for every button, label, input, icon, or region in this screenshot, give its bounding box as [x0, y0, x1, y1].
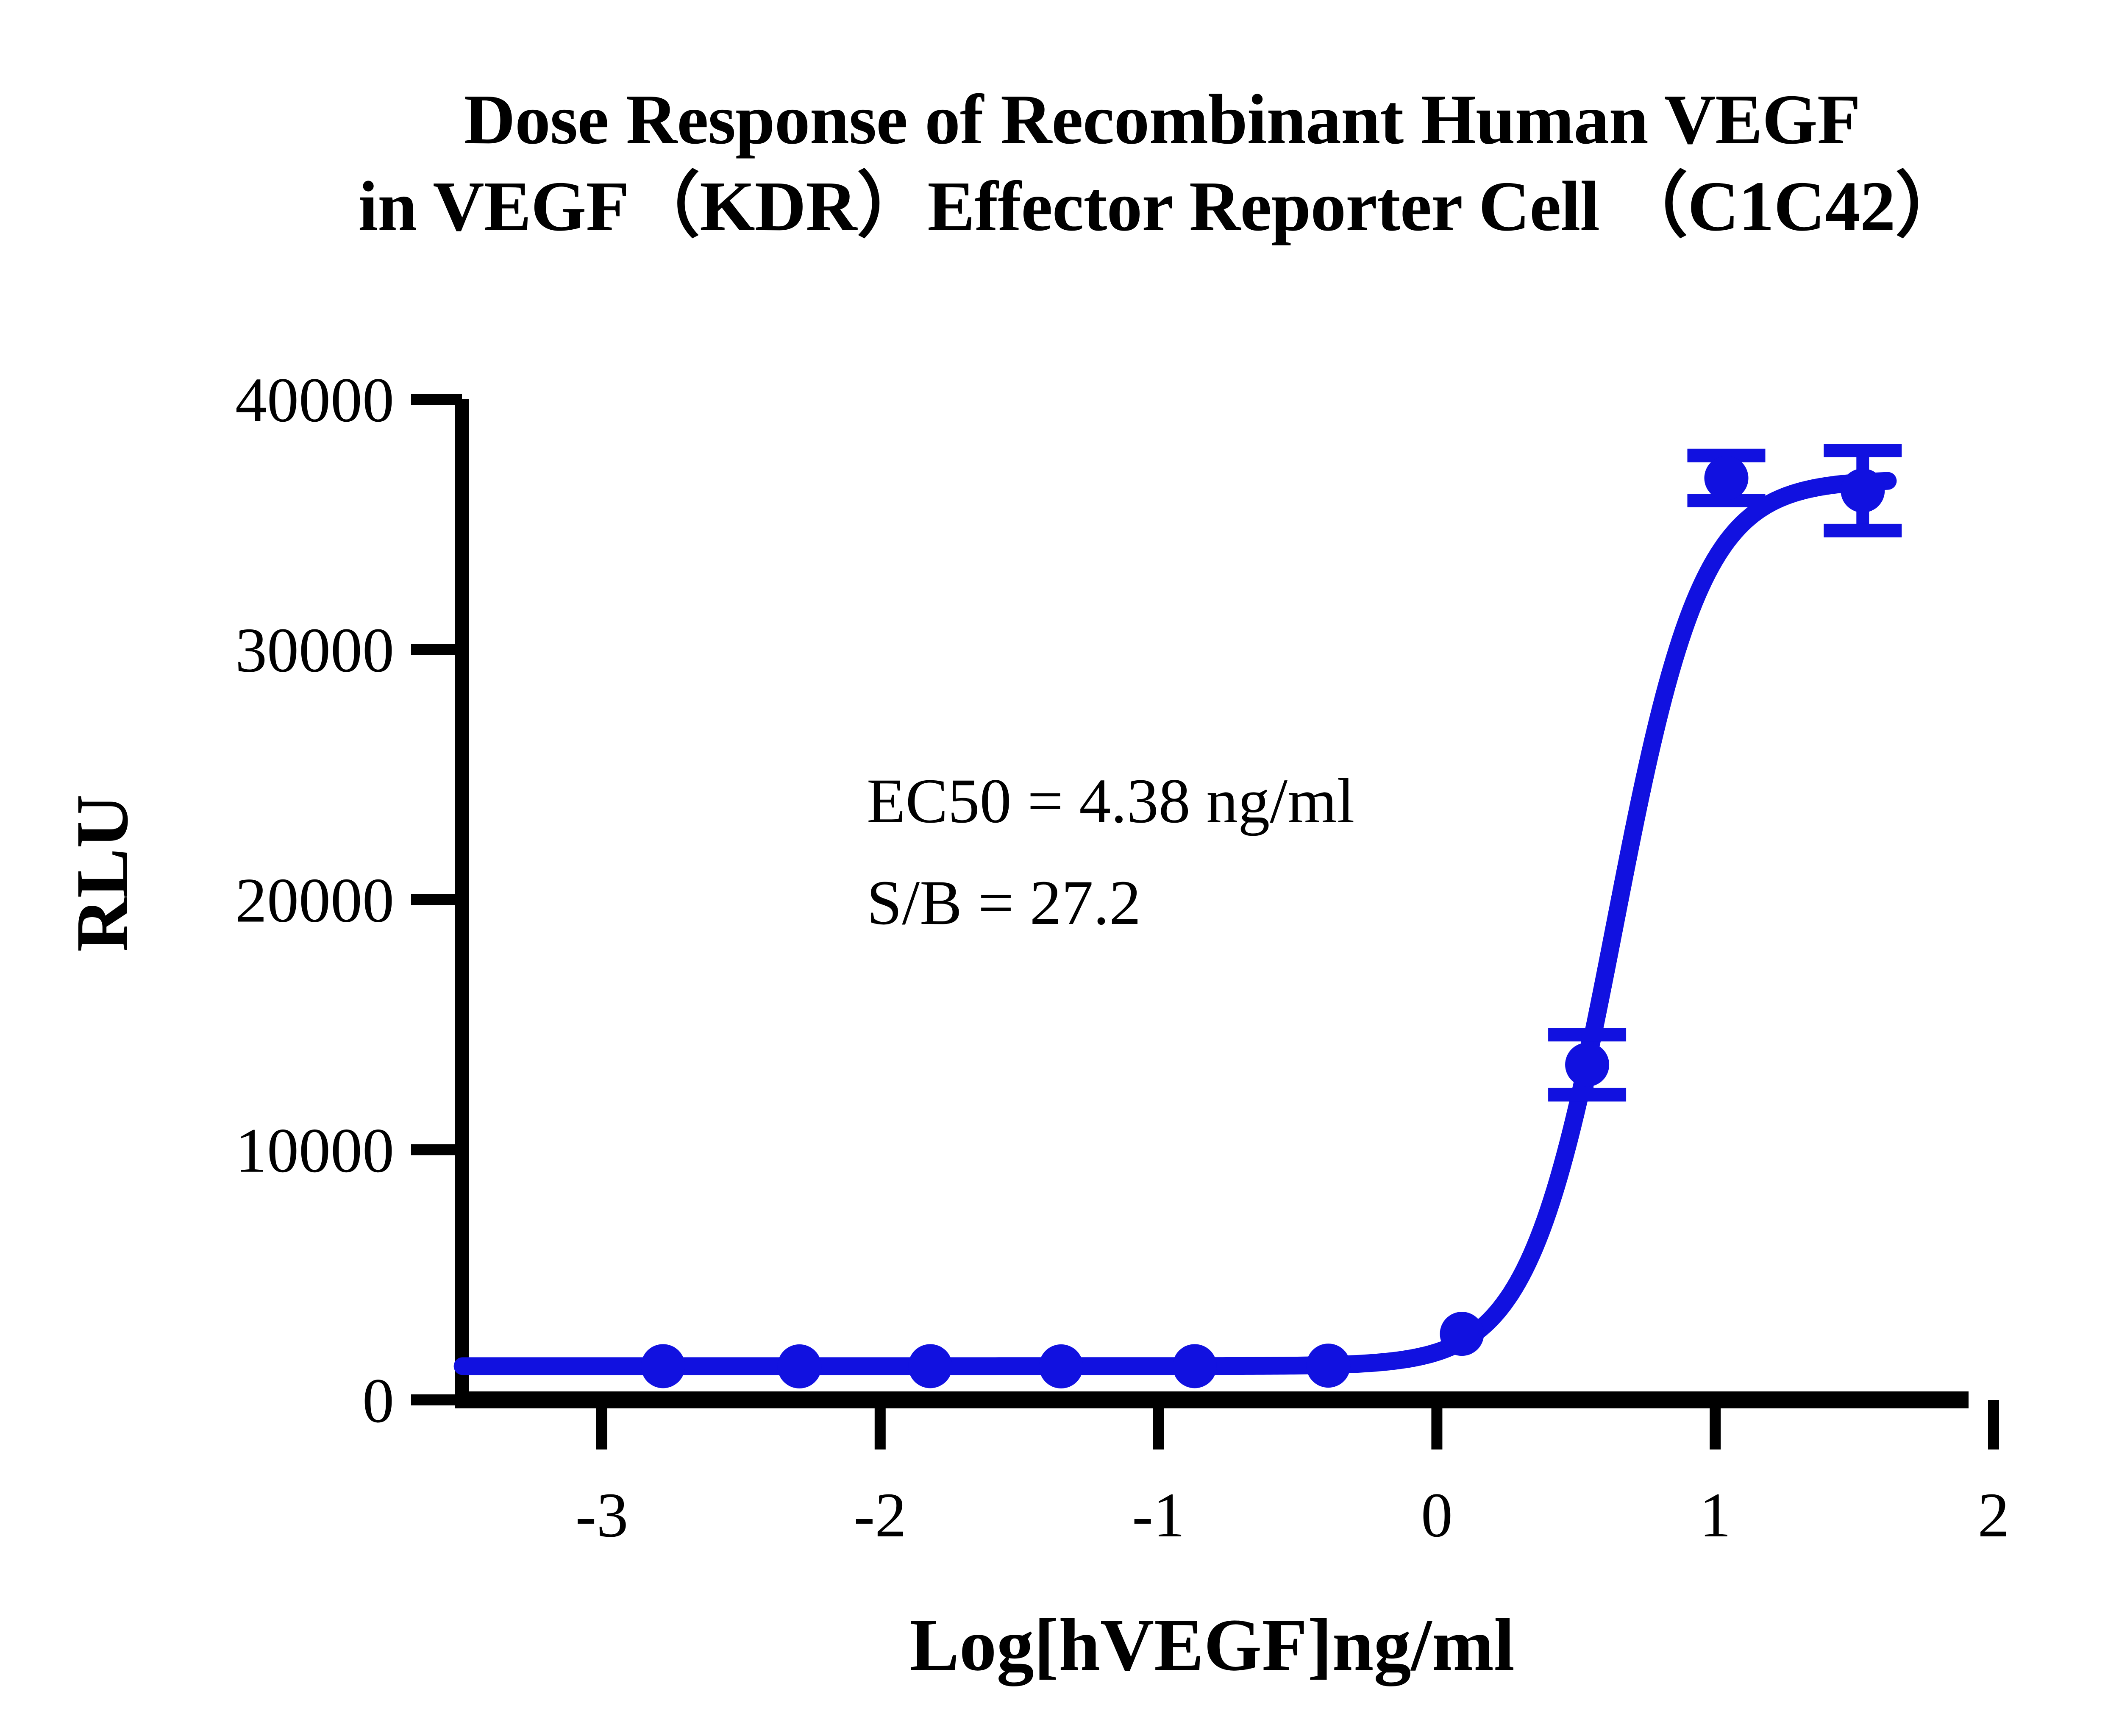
data-point-marker: [1841, 468, 1885, 512]
y-axis: 010000200003000040000 RLU: [61, 365, 462, 1436]
x-tick-label: 1: [1699, 1480, 1731, 1550]
annotation-signal-background: S/B = 27.2: [867, 868, 1141, 938]
data-point-marker: [1306, 1344, 1350, 1388]
data-point-marker: [1565, 1043, 1609, 1087]
y-axis-title: RLU: [61, 794, 144, 952]
sigmoid-fit-curve: [463, 481, 1888, 1366]
data-point-marker: [1704, 456, 1748, 500]
x-tick-label: 0: [1421, 1480, 1453, 1550]
annotation-ec50: EC50 = 4.38 ng/ml: [867, 766, 1354, 836]
data-point-marker: [777, 1344, 821, 1388]
figure-root: Dose Response of Recombinant Human VEGF …: [0, 0, 2119, 1736]
data-point-marker: [1440, 1312, 1484, 1356]
y-tick-label: 0: [362, 1366, 394, 1436]
plot-area: 010000200003000040000 RLU -3-2-1012 Log[…: [0, 0, 2119, 1736]
x-axis-title: Log[hVEGF]ng/ml: [909, 1604, 1515, 1686]
x-tick-label: 2: [1978, 1480, 2010, 1550]
x-tick-label: -3: [576, 1480, 628, 1550]
y-tick-label: 30000: [235, 615, 394, 685]
y-tick-label: 10000: [235, 1116, 394, 1186]
y-tick-label: 40000: [235, 365, 394, 435]
data-point-marker: [641, 1344, 685, 1388]
y-tick-label: 20000: [235, 865, 394, 936]
data-point-marker: [1173, 1344, 1217, 1388]
data-point-marker: [1039, 1344, 1083, 1388]
data-point-marker: [908, 1344, 952, 1388]
x-axis: -3-2-1012 Log[hVEGF]ng/ml: [455, 1400, 2010, 1686]
x-tick-label: -2: [854, 1480, 907, 1550]
x-tick-label: -1: [1132, 1480, 1185, 1550]
